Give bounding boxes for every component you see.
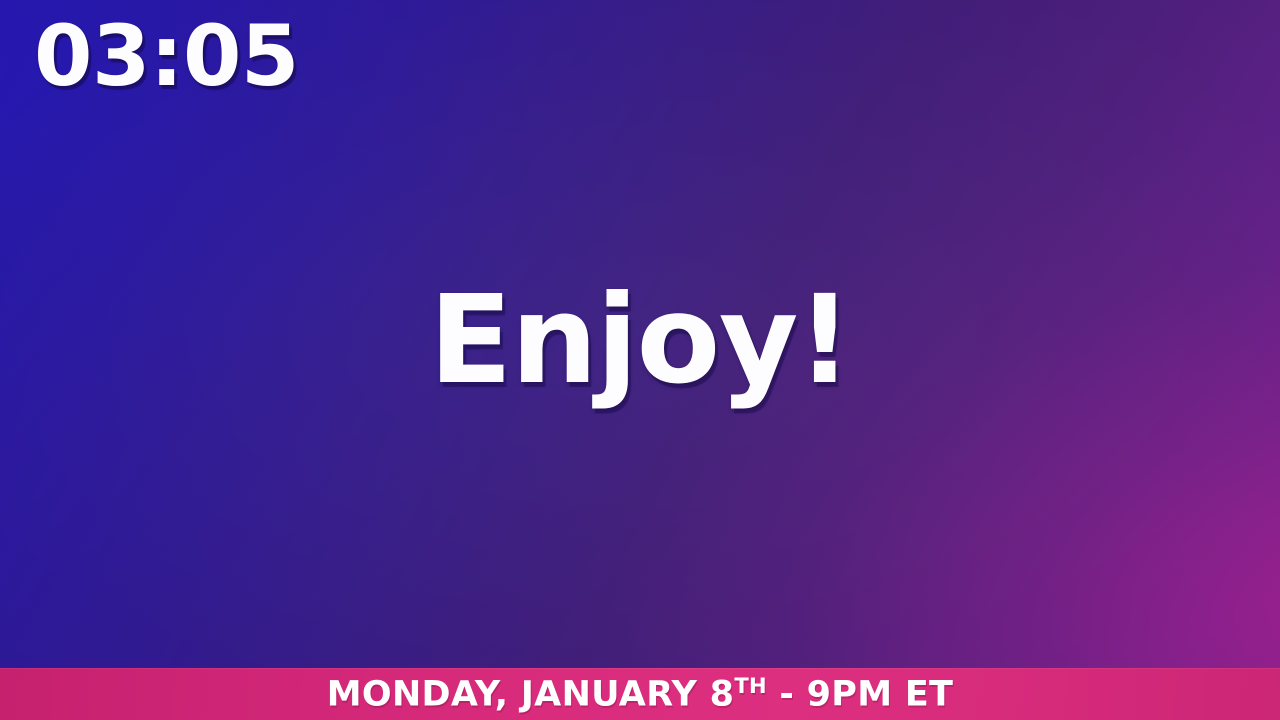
schedule-date-prefix: MONDAY, JANUARY 8 <box>327 674 735 714</box>
countdown-timer: 03:05 <box>34 14 299 98</box>
schedule-banner: MONDAY, JANUARY 8TH - 9PM ET <box>0 668 1280 720</box>
background-vignette <box>0 0 1280 720</box>
countdown-overlay: 03:05 Enjoy! MONDAY, JANUARY 8TH - 9PM E… <box>0 0 1280 720</box>
schedule-time-suffix: - 9PM ET <box>767 674 953 714</box>
schedule-date-ordinal: TH <box>734 674 767 698</box>
schedule-banner-text: MONDAY, JANUARY 8TH - 9PM ET <box>327 676 953 713</box>
